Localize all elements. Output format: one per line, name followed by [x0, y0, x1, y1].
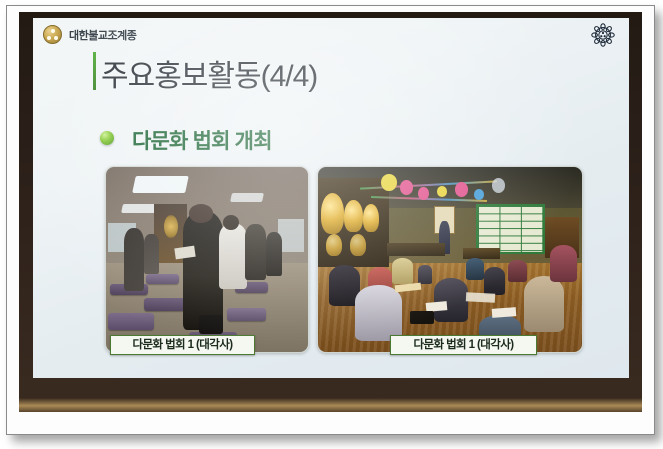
lotus-wheel-emblem-icon	[590, 22, 616, 48]
presentation-slide: 대한불교조계종	[33, 18, 629, 378]
projector-photo-frame: 대한불교조계종	[0, 0, 663, 449]
bezel-bottom-highlight	[19, 398, 642, 412]
dharma-assembly-photo-right	[317, 166, 583, 353]
green-gloss-bullet-icon	[100, 131, 114, 145]
slide-header: 대한불교조계종	[33, 18, 629, 50]
organization-name: 대한불교조계종	[69, 27, 136, 43]
page-title: 주요홍보활동(4/4)	[101, 51, 317, 95]
jogye-three-dot-circle-icon	[43, 25, 62, 44]
title-accent-bar	[93, 52, 96, 90]
photo-caption-right: 다문화 법회 1 (대각사)	[390, 335, 537, 355]
photo-caption-left: 다문화 법회 1 (대각사)	[110, 335, 255, 355]
dharma-assembly-photo-left	[105, 166, 309, 353]
bullet-heading: 다문화 법회 개최	[132, 125, 272, 155]
